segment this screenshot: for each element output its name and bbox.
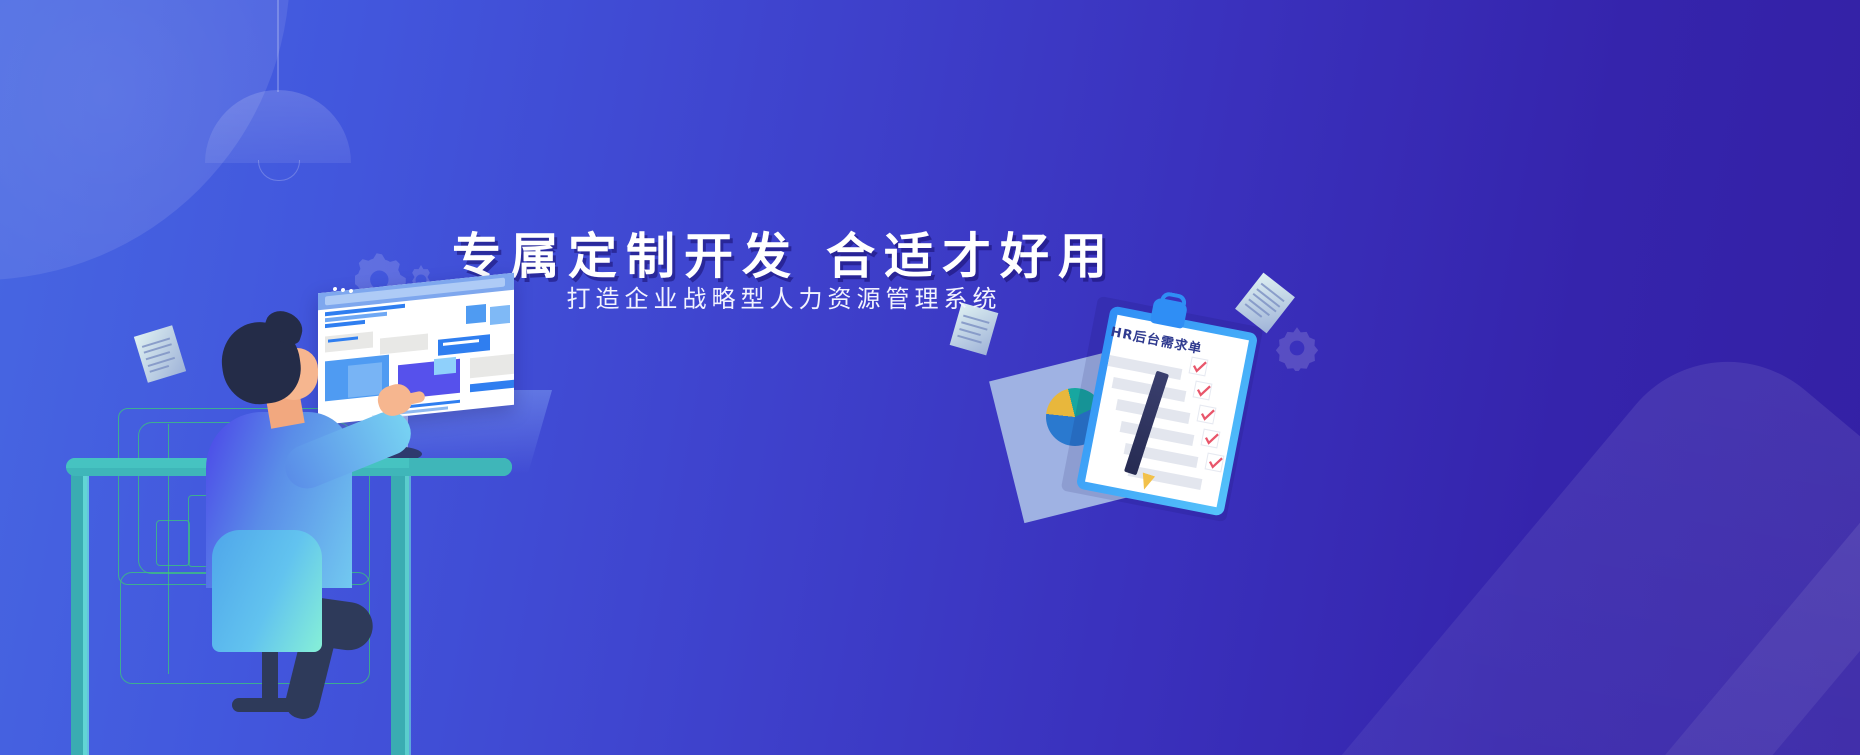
desk-leg-highlight — [405, 472, 411, 755]
page-subtitle: 打造企业战略型人力资源管理系统 — [0, 279, 1568, 314]
hero-banner: 专属定制开发 合适才好用 打造企业战略型人力资源管理系统 — [0, 0, 1860, 755]
checkbox-checked[interactable] — [1205, 453, 1225, 473]
checkbox-checked[interactable] — [1193, 381, 1213, 401]
screen-chart-tile — [348, 362, 382, 398]
checkbox-checked[interactable] — [1201, 429, 1221, 449]
gear-icon — [1274, 325, 1320, 371]
chair-backrest — [212, 530, 322, 652]
checkbox-checked[interactable] — [1189, 357, 1209, 377]
desk-leg-highlight — [83, 472, 89, 755]
screen-tile — [490, 305, 510, 325]
desk-surface-right — [409, 458, 512, 476]
lamp-cord — [277, 0, 279, 92]
screen-tile — [466, 304, 486, 324]
wall-outline-decoration — [156, 520, 190, 566]
page-title: 专属定制开发 合适才好用 — [0, 217, 1568, 288]
checkbox-checked[interactable] — [1197, 405, 1217, 425]
screen-chart-tile — [434, 357, 456, 375]
lamp-bulb-icon — [258, 160, 300, 181]
note-paper-icon — [134, 325, 186, 383]
